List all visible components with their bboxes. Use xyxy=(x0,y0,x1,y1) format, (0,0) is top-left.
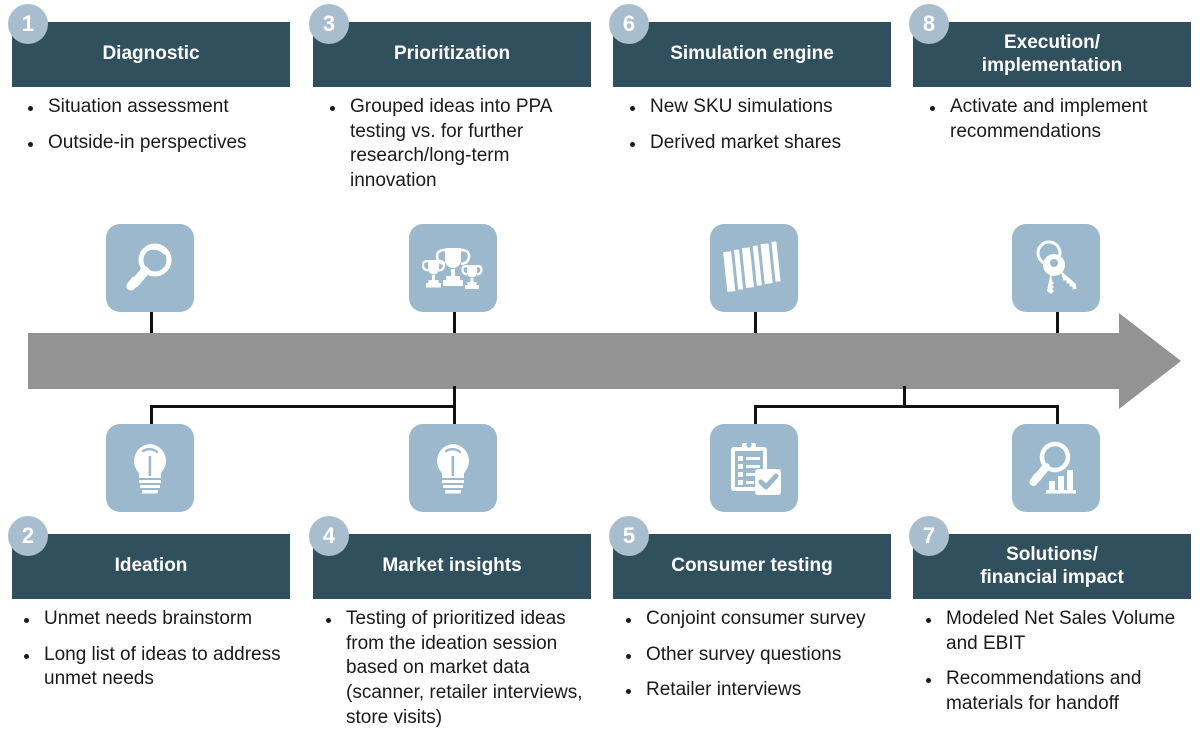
list-item: Modeled Net Sales Volume and EBIT xyxy=(916,607,1178,656)
stage-badge-4: 4 xyxy=(309,516,349,556)
connector-span-a xyxy=(150,405,456,408)
icon-tile-solutions xyxy=(1012,424,1100,512)
stage-bullets-7: Modeled Net Sales Volume and EBIT Recomm… xyxy=(916,607,1178,728)
list-item: Retailer interviews xyxy=(616,678,902,703)
list-item: Activate and implement recommendations xyxy=(920,95,1188,144)
stage-title-7: Solutions/ financial impact xyxy=(913,534,1191,599)
list-item: Outside-in perspectives xyxy=(18,131,300,156)
stage-bullets-6: New SKU simulations Derived market share… xyxy=(620,95,900,166)
stage-bottom-4: 4 Market insights xyxy=(313,534,591,599)
stage-bottom-5: 5 Consumer testing xyxy=(613,534,891,599)
stage-bottom-7: 7 Solutions/ financial impact xyxy=(913,534,1191,599)
stage-badge-5: 5 xyxy=(609,516,649,556)
stage-top-1: 1 Diagnostic xyxy=(12,22,290,87)
stage-badge-6: 6 xyxy=(609,4,649,44)
stage-badge-1: 1 xyxy=(8,4,48,44)
connector-drop-a xyxy=(453,386,456,407)
list-item: Conjoint consumer survey xyxy=(616,607,902,632)
stage-title-6: Simulation engine xyxy=(613,22,891,87)
stage-top-8: 8 Execution/ implementation xyxy=(913,22,1191,87)
connector-span-b xyxy=(754,405,1059,408)
keys-icon xyxy=(1027,239,1085,297)
lightbulb-icon xyxy=(426,440,480,496)
stage-title-2: Ideation xyxy=(12,534,290,599)
magnifier-icon xyxy=(122,240,178,296)
icon-tile-execution xyxy=(1012,224,1100,312)
icon-tile-ideation xyxy=(106,424,194,512)
stage-badge-7: 7 xyxy=(909,516,949,556)
stage-bullets-4: Testing of prioritized ideas from the id… xyxy=(316,607,596,741)
stage-bullets-8: Activate and implement recommendations xyxy=(920,95,1188,155)
stage-badge-8: 8 xyxy=(909,4,949,44)
process-timeline-diagram: 1 Diagnostic 3 Prioritization 6 Simulati… xyxy=(0,0,1200,747)
stage-bottom-2: 2 Ideation xyxy=(12,534,290,599)
list-item: Unmet needs brainstorm xyxy=(14,607,296,632)
icon-tile-simulation-engine xyxy=(710,224,798,312)
list-item: Long list of ideas to address unmet need… xyxy=(14,643,296,692)
icon-tile-market-insights xyxy=(409,424,497,512)
clipboard-check-icon xyxy=(725,439,783,497)
stage-bullets-2: Unmet needs brainstorm Long list of idea… xyxy=(14,607,296,703)
list-item: Derived market shares xyxy=(620,131,900,156)
icon-tile-prioritization xyxy=(409,224,497,312)
timeline-arrow-body xyxy=(28,333,1123,389)
stage-title-3: Prioritization xyxy=(313,22,591,87)
trophies-icon xyxy=(422,240,484,296)
stage-top-6: 6 Simulation engine xyxy=(613,22,891,87)
connector-drop-b xyxy=(903,386,906,407)
stage-title-1: Diagnostic xyxy=(12,22,290,87)
lightbulb-icon xyxy=(123,440,177,496)
magnifier-chart-icon xyxy=(1027,440,1085,496)
stage-title-8: Execution/ implementation xyxy=(913,22,1191,87)
stage-badge-2: 2 xyxy=(8,516,48,556)
stage-title-4: Market insights xyxy=(313,534,591,599)
icon-tile-consumer-testing xyxy=(710,424,798,512)
list-item: Recommendations and materials for handof… xyxy=(916,667,1178,716)
timeline-arrow-head xyxy=(1119,313,1181,409)
list-item: Testing of prioritized ideas from the id… xyxy=(316,607,596,730)
stage-bullets-5: Conjoint consumer survey Other survey qu… xyxy=(616,607,902,714)
stage-badge-3: 3 xyxy=(309,4,349,44)
stage-top-3: 3 Prioritization xyxy=(313,22,591,87)
icon-tile-diagnostic xyxy=(106,224,194,312)
stage-bullets-3: Grouped ideas into PPA testing vs. for f… xyxy=(320,95,590,205)
stage-bullets-1: Situation assessment Outside-in perspect… xyxy=(18,95,300,166)
list-item: Situation assessment xyxy=(18,95,300,120)
barcode-icon xyxy=(723,240,785,296)
stage-title-5: Consumer testing xyxy=(613,534,891,599)
list-item: New SKU simulations xyxy=(620,95,900,120)
list-item: Grouped ideas into PPA testing vs. for f… xyxy=(320,95,590,194)
list-item: Other survey questions xyxy=(616,643,902,668)
